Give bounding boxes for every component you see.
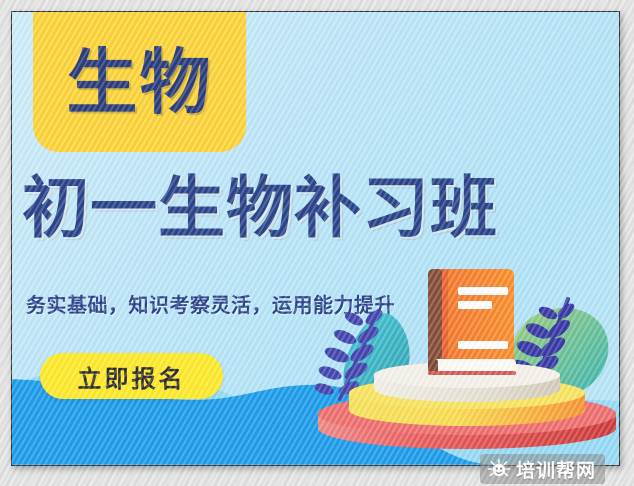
book-podium-illustration xyxy=(282,267,619,452)
enroll-now-button[interactable]: 立即报名 xyxy=(40,353,223,399)
course-promo-poster: 生物 初一生物补习班 务实基础，知识考察灵活，运用能力提升 立即报名 xyxy=(11,11,620,466)
orange-book xyxy=(428,269,516,375)
poster-inner: 生物 初一生物补习班 务实基础，知识考察灵活，运用能力提升 立即报名 xyxy=(12,12,619,465)
subject-badge-label: 生物 xyxy=(66,48,212,119)
watermark-label: 培训帮网 xyxy=(516,456,596,483)
sun-face-icon xyxy=(487,458,511,480)
watermark: 培训帮网 xyxy=(480,454,605,484)
poster-headline: 初一生物补习班 xyxy=(22,175,619,242)
page-background: 生物 初一生物补习班 务实基础，知识考察灵活，运用能力提升 立即报名 xyxy=(0,0,634,486)
subject-badge: 生物 xyxy=(33,12,246,152)
